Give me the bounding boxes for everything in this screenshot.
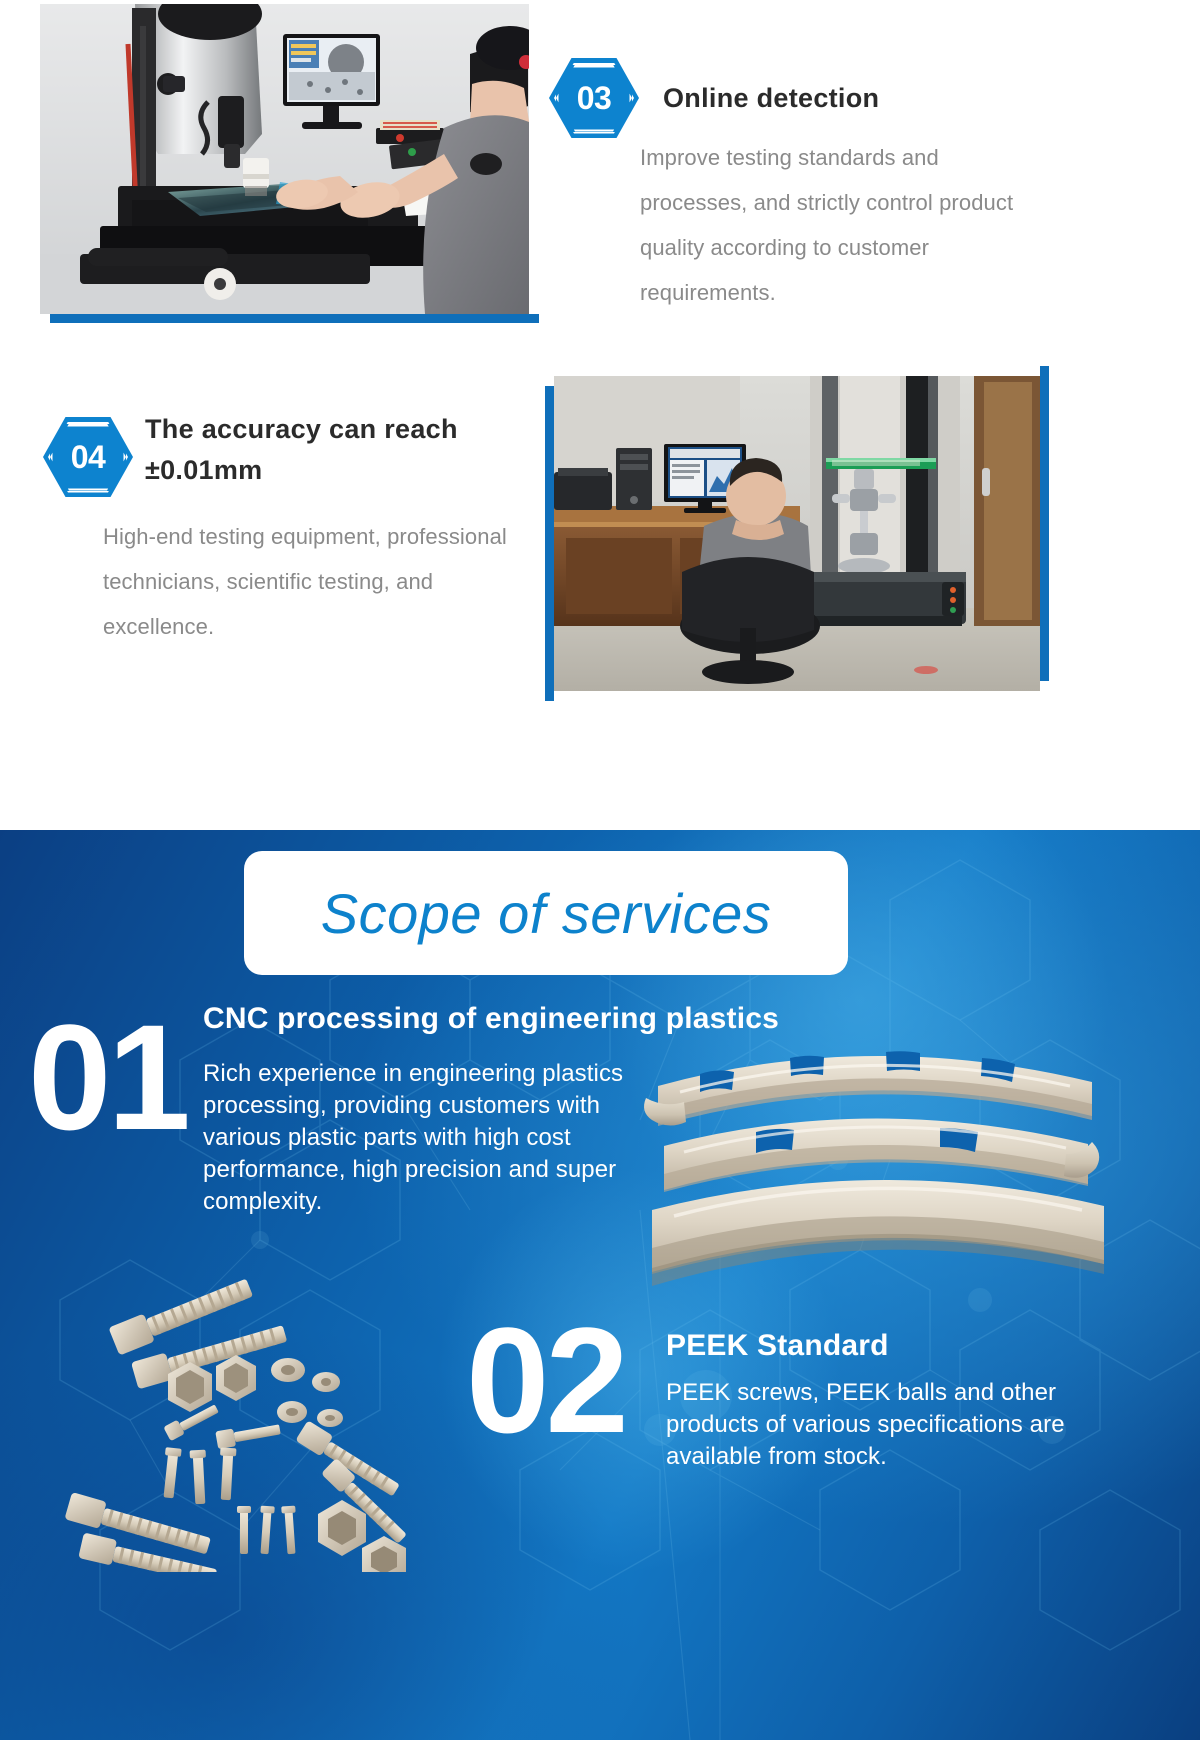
photo-image-2 [554, 376, 1040, 691]
scope-heading: Scope of services [321, 881, 771, 946]
tensile-testing-machine-illustration [554, 376, 1040, 691]
vision-measuring-machine-illustration [40, 4, 529, 314]
photo-accent-bar-left [545, 386, 554, 701]
scope-of-services-section: Scope of services 01 CNC processing of e… [0, 830, 1200, 1740]
service-body-02: PEEK screws, PEEK balls and other produc… [666, 1377, 1086, 1473]
feature-title-03: Online detection [663, 78, 1093, 119]
feature-body-04: High-end testing equipment, professional… [103, 514, 533, 649]
service-number-01: 01 [28, 1002, 187, 1152]
scope-title-box: Scope of services [244, 851, 848, 975]
photo-accent-bar-right [1040, 366, 1049, 681]
feature-number-04: 04 [71, 439, 106, 476]
service-title-02: PEEK Standard [666, 1327, 1146, 1365]
feature-number-03: 03 [577, 80, 612, 117]
vision-measuring-machine-photo [40, 4, 529, 314]
tensile-testing-machine-photo [554, 376, 1040, 691]
photo-accent-bar-bottom [50, 314, 539, 323]
service-number-02: 02 [466, 1305, 625, 1455]
feature-title-04: The accuracy can reach ±0.01mm [145, 409, 525, 491]
peek-fasteners-illustration [40, 1262, 460, 1572]
feature-body-03: Improve testing standards and processes,… [640, 135, 1040, 315]
feature-badge-03: 03 [549, 58, 639, 138]
peek-screws-nuts-bolts [40, 1262, 460, 1572]
photo-image-1 [40, 4, 529, 314]
peek-chain-parts-illustration [640, 1022, 1110, 1302]
feature-badge-04: 04 [43, 417, 133, 497]
peek-machined-chain-parts [640, 1022, 1110, 1302]
service-body-01: Rich experience in engineering plastics … [203, 1058, 633, 1218]
features-section: 03 Online detection Improve testing stan… [0, 0, 1200, 830]
